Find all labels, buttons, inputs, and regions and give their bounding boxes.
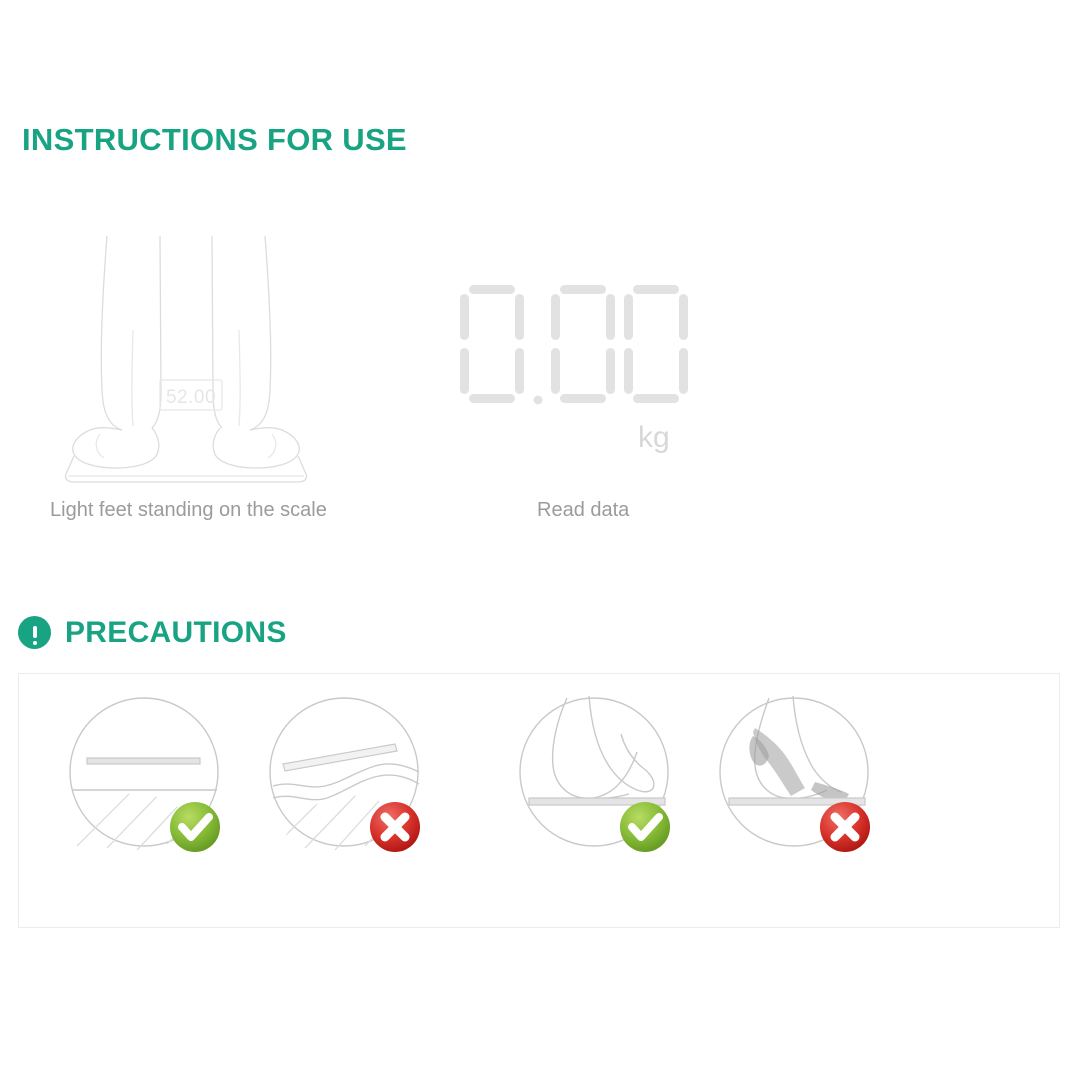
precautions-title: PRECAUTIONS (65, 618, 287, 648)
step-caption-read-data: Read data (537, 500, 629, 520)
illustration-read-data: kg (450, 255, 750, 470)
lcd-digit-1 (460, 285, 524, 403)
cross-circle-icon (820, 802, 870, 852)
lcd-digit-3 (624, 285, 688, 403)
precaution-item-sock-foot (717, 694, 877, 854)
lcd-digit-2 (551, 285, 615, 403)
page-title: INSTRUCTIONS FOR USE (22, 124, 407, 155)
legs-on-scale-drawing: 52.00 (60, 230, 360, 490)
check-circle-icon (620, 802, 670, 852)
exclamation-circle-icon (18, 616, 51, 649)
lcd-unit-label: kg (638, 421, 670, 454)
precautions-panel (18, 673, 1060, 928)
scale-display-value: 52.00 (166, 387, 216, 408)
precaution-item-hard-flat-floor (67, 694, 227, 854)
precaution-item-soft-uneven-floor (267, 694, 427, 854)
precaution-item-bare-foot (517, 694, 677, 854)
check-circle-icon (170, 802, 220, 852)
precautions-header: PRECAUTIONS (18, 616, 287, 649)
step-caption-light-feet: Light feet standing on the scale (50, 500, 327, 520)
illustration-light-feet-standing: 52.00 (60, 230, 360, 490)
cross-circle-icon (370, 802, 420, 852)
lcd-decimal-point (534, 396, 543, 405)
lcd-readout-drawing: kg (450, 255, 750, 470)
